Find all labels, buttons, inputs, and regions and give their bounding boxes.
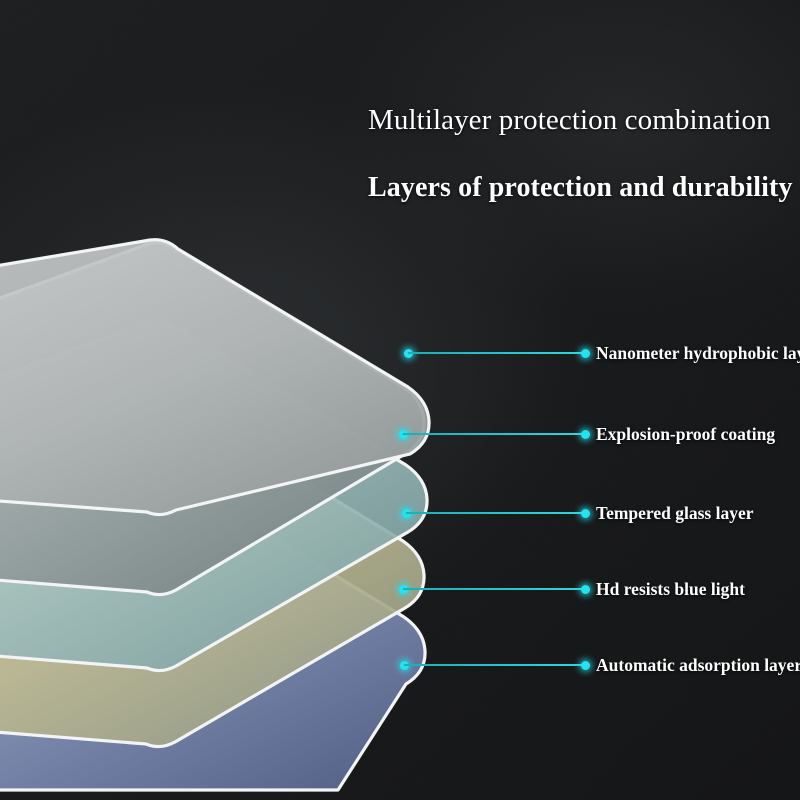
callout-label: Explosion-proof coating — [596, 424, 775, 445]
callout-label: Hd resists blue light — [596, 579, 745, 600]
page-title: Multilayer protection combination — [368, 104, 771, 137]
callout-end-dot — [581, 585, 590, 594]
callout-end-dot — [581, 349, 590, 358]
callout-label: Automatic adsorption layer — [596, 655, 800, 676]
callout-end-dot — [581, 661, 590, 670]
callout-end-dot — [581, 509, 590, 518]
callout-label: Tempered glass layer — [596, 503, 754, 524]
callout-leader-line — [403, 433, 587, 435]
page-subtitle: Layers of protection and durability — [368, 172, 793, 204]
callout-leader-line — [408, 352, 587, 354]
callout-leader-line — [404, 664, 587, 666]
callout-end-dot — [581, 430, 590, 439]
callout-leader-line — [403, 588, 587, 590]
product-layer-diagram: Multilayer protection combination Layers… — [0, 0, 800, 800]
callout-label: Nanometer hydrophobic layer — [596, 343, 800, 364]
callout-leader-line — [406, 512, 587, 514]
